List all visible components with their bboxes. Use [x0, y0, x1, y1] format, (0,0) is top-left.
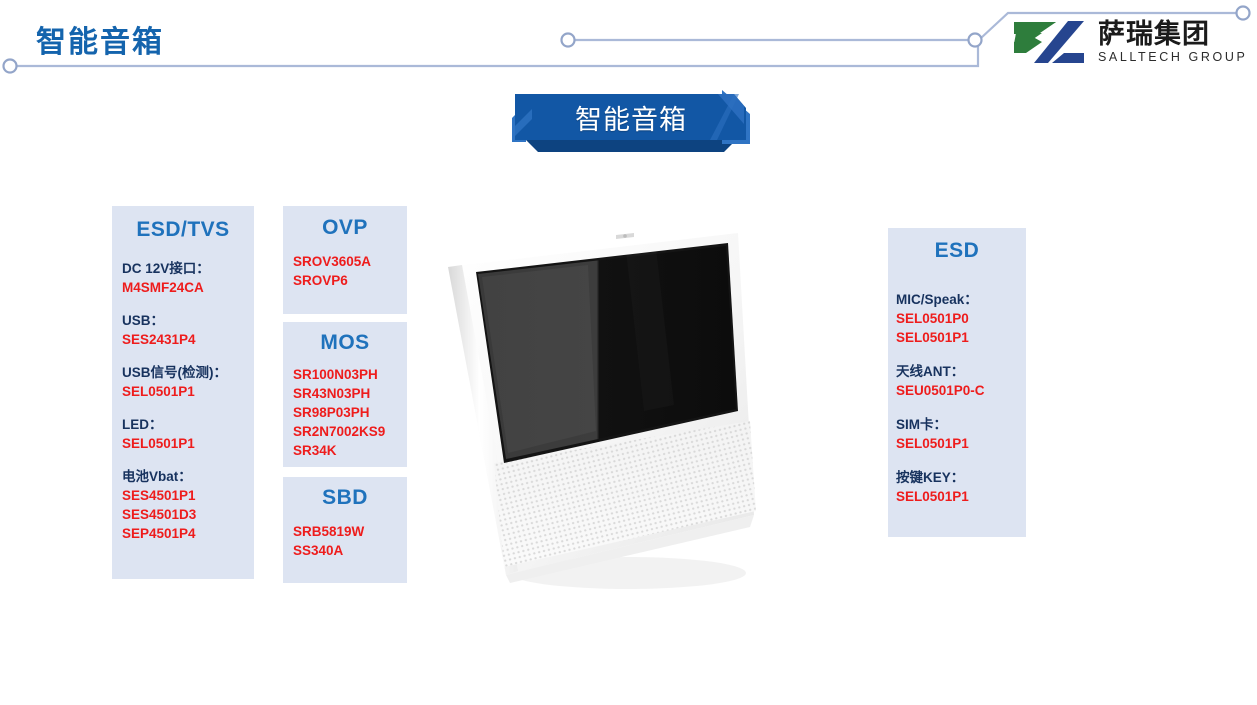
spec-box-sbd: SBD SRB5819W SS340A — [283, 477, 407, 583]
spec-label: 天线ANT： — [896, 362, 1026, 381]
deco-circle-left — [4, 60, 17, 73]
spec-part: SR2N7002KS9 — [293, 422, 407, 441]
spec-part: SEL0501P1 — [122, 434, 254, 453]
spec-group: SIM卡： SEL0501P1 — [896, 415, 1026, 453]
spec-group: 天线ANT： SEU0501P0-C — [896, 362, 1026, 400]
spec-part: SEL0501P1 — [896, 487, 1026, 506]
spec-box-esd: ESD MIC/Speak： SEL0501P0 SEL0501P1 天线ANT… — [888, 228, 1026, 537]
smart-speaker-image — [438, 215, 788, 605]
spec-group: SR100N03PH SR43N03PH SR98P03PH SR2N7002K… — [293, 365, 407, 460]
spec-box-title: ESD — [888, 239, 1026, 263]
spec-box-ovp: OVP SROV3605A SROVP6 — [283, 206, 407, 314]
spec-box-esd-tvs: ESD/TVS DC 12V接口： M4SMF24CA USB： SES2431… — [112, 206, 254, 579]
spec-group: USB信号(检测)： SEL0501P1 — [122, 363, 254, 401]
spec-label: USB： — [122, 311, 254, 330]
deco-circle-node — [969, 34, 982, 47]
logo-name-en: SALLTECH GROUP — [1098, 51, 1247, 64]
spec-part: SR43N03PH — [293, 384, 407, 403]
spec-label: USB信号(检测)： — [122, 363, 254, 382]
spec-label: 电池Vbat： — [122, 467, 254, 486]
deco-circle-middle — [562, 34, 575, 47]
logo-name-cn: 萨瑞集团 — [1098, 21, 1247, 48]
spec-label: 按键KEY： — [896, 468, 1026, 487]
spec-part: SR98P03PH — [293, 403, 407, 422]
spec-part: SEL0501P1 — [122, 382, 254, 401]
spec-group: 按键KEY： SEL0501P1 — [896, 468, 1026, 506]
spec-box-title: MOS — [283, 331, 407, 355]
spec-label: DC 12V接口： — [122, 259, 254, 278]
spec-box-mos: MOS SR100N03PH SR43N03PH SR98P03PH SR2N7… — [283, 322, 407, 467]
spec-part: SEL0501P0 — [896, 309, 1026, 328]
spec-part: SRB5819W — [293, 522, 407, 541]
spec-box-body: SRB5819W SS340A — [283, 522, 407, 560]
spec-part: SS340A — [293, 541, 407, 560]
logo-wordmark: 萨瑞集团 SALLTECH GROUP — [1098, 21, 1247, 64]
spec-box-body: SROV3605A SROVP6 — [283, 252, 407, 290]
spec-box-title: SBD — [283, 486, 407, 510]
spec-part: SES2431P4 — [122, 330, 254, 349]
spec-part: SEL0501P1 — [896, 434, 1026, 453]
spec-part: SR100N03PH — [293, 365, 407, 384]
spec-part: SEP4501P4 — [122, 524, 254, 543]
spec-part: SEL0501P1 — [896, 328, 1026, 347]
spec-part: SES4501D3 — [122, 505, 254, 524]
spec-group: 电池Vbat： SES4501P1 SES4501D3 SEP4501P4 — [122, 467, 254, 543]
page-title: 智能音箱 — [36, 17, 164, 61]
spec-part: SROV3605A — [293, 252, 407, 271]
spec-label: SIM卡： — [896, 415, 1026, 434]
spec-group: USB： SES2431P4 — [122, 311, 254, 349]
spec-part: SEU0501P0-C — [896, 381, 1026, 400]
spec-box-body: SR100N03PH SR43N03PH SR98P03PH SR2N7002K… — [283, 365, 407, 460]
spec-group: MIC/Speak： SEL0501P0 SEL0501P1 — [896, 290, 1026, 347]
spec-part: SR34K — [293, 441, 407, 460]
spec-group: LED： SEL0501P1 — [122, 415, 254, 453]
spec-part: SES4501P1 — [122, 486, 254, 505]
spec-label: LED： — [122, 415, 254, 434]
spec-box-title: ESD/TVS — [112, 218, 254, 242]
banner-title: 智能音箱 — [512, 90, 750, 144]
section-banner: 智能音箱 — [512, 90, 750, 156]
spec-group: SROV3605A SROVP6 — [293, 252, 407, 290]
company-logo: 萨瑞集团 SALLTECH GROUP — [1012, 18, 1247, 66]
spec-part: SROVP6 — [293, 271, 407, 290]
spec-label: MIC/Speak： — [896, 290, 1026, 309]
spec-part: M4SMF24CA — [122, 278, 254, 297]
spec-box-body: MIC/Speak： SEL0501P0 SEL0501P1 天线ANT： SE… — [888, 290, 1026, 506]
salltech-logo-icon — [1012, 20, 1090, 64]
spec-group: DC 12V接口： M4SMF24CA — [122, 259, 254, 297]
spec-group: SRB5819W SS340A — [293, 522, 407, 560]
spec-box-title: OVP — [283, 216, 407, 240]
page-header: 智能音箱 萨瑞集团 SALLTECH GROUP — [0, 0, 1257, 88]
spec-box-body: DC 12V接口： M4SMF24CA USB： SES2431P4 USB信号… — [112, 259, 254, 543]
